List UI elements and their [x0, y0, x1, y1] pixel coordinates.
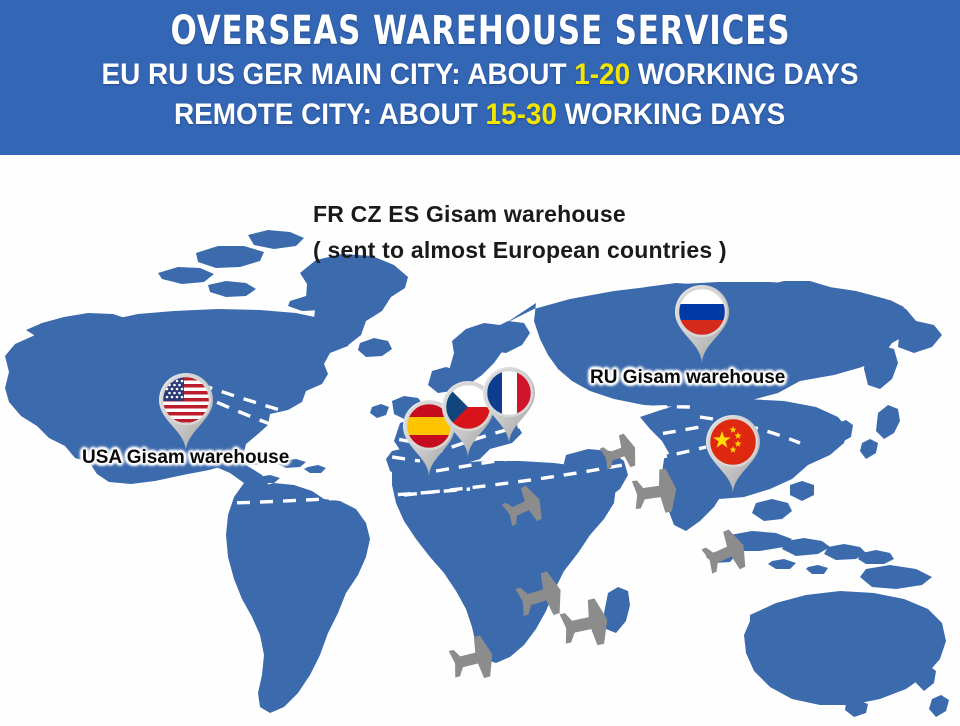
- poster-canvas: OVERSEAS WAREHOUSE SERVICES EU RU US GER…: [0, 0, 960, 726]
- main-city-prefix: EU RU US GER MAIN CITY: ABOUT: [101, 58, 574, 91]
- map-pin-russia[interactable]: [671, 283, 733, 365]
- remote-city-prefix: REMOTE CITY: ABOUT: [174, 98, 486, 131]
- remote-city-days-highlight: 15-30: [486, 98, 557, 131]
- main-city-suffix: WORKING DAYS: [630, 58, 858, 91]
- remote-city-suffix: WORKING DAYS: [557, 98, 785, 131]
- delivery-time-main-city: EU RU US GER MAIN CITY: ABOUT 1-20 WORKI…: [101, 60, 858, 90]
- map-pin-france[interactable]: [479, 365, 539, 445]
- label-ru-warehouse: RU Gisam warehouse: [590, 367, 785, 389]
- europe-warehouse-note: FR CZ ES Gisam warehouse ( sent to almos…: [313, 196, 727, 268]
- map-pin-usa[interactable]: [155, 371, 217, 453]
- label-usa-warehouse: USA Gisam warehouse: [82, 447, 289, 469]
- main-city-days-highlight: 1-20: [574, 58, 630, 91]
- europe-note-line2: ( sent to almost European countries ): [313, 232, 727, 268]
- europe-note-line1: FR CZ ES Gisam warehouse: [313, 196, 727, 232]
- header-banner: OVERSEAS WAREHOUSE SERVICES EU RU US GER…: [0, 0, 960, 155]
- map-pin-china[interactable]: [702, 413, 764, 495]
- page-title: OVERSEAS WAREHOUSE SERVICES: [170, 11, 790, 51]
- delivery-time-remote-city: REMOTE CITY: ABOUT 15-30 WORKING DAYS: [174, 100, 785, 130]
